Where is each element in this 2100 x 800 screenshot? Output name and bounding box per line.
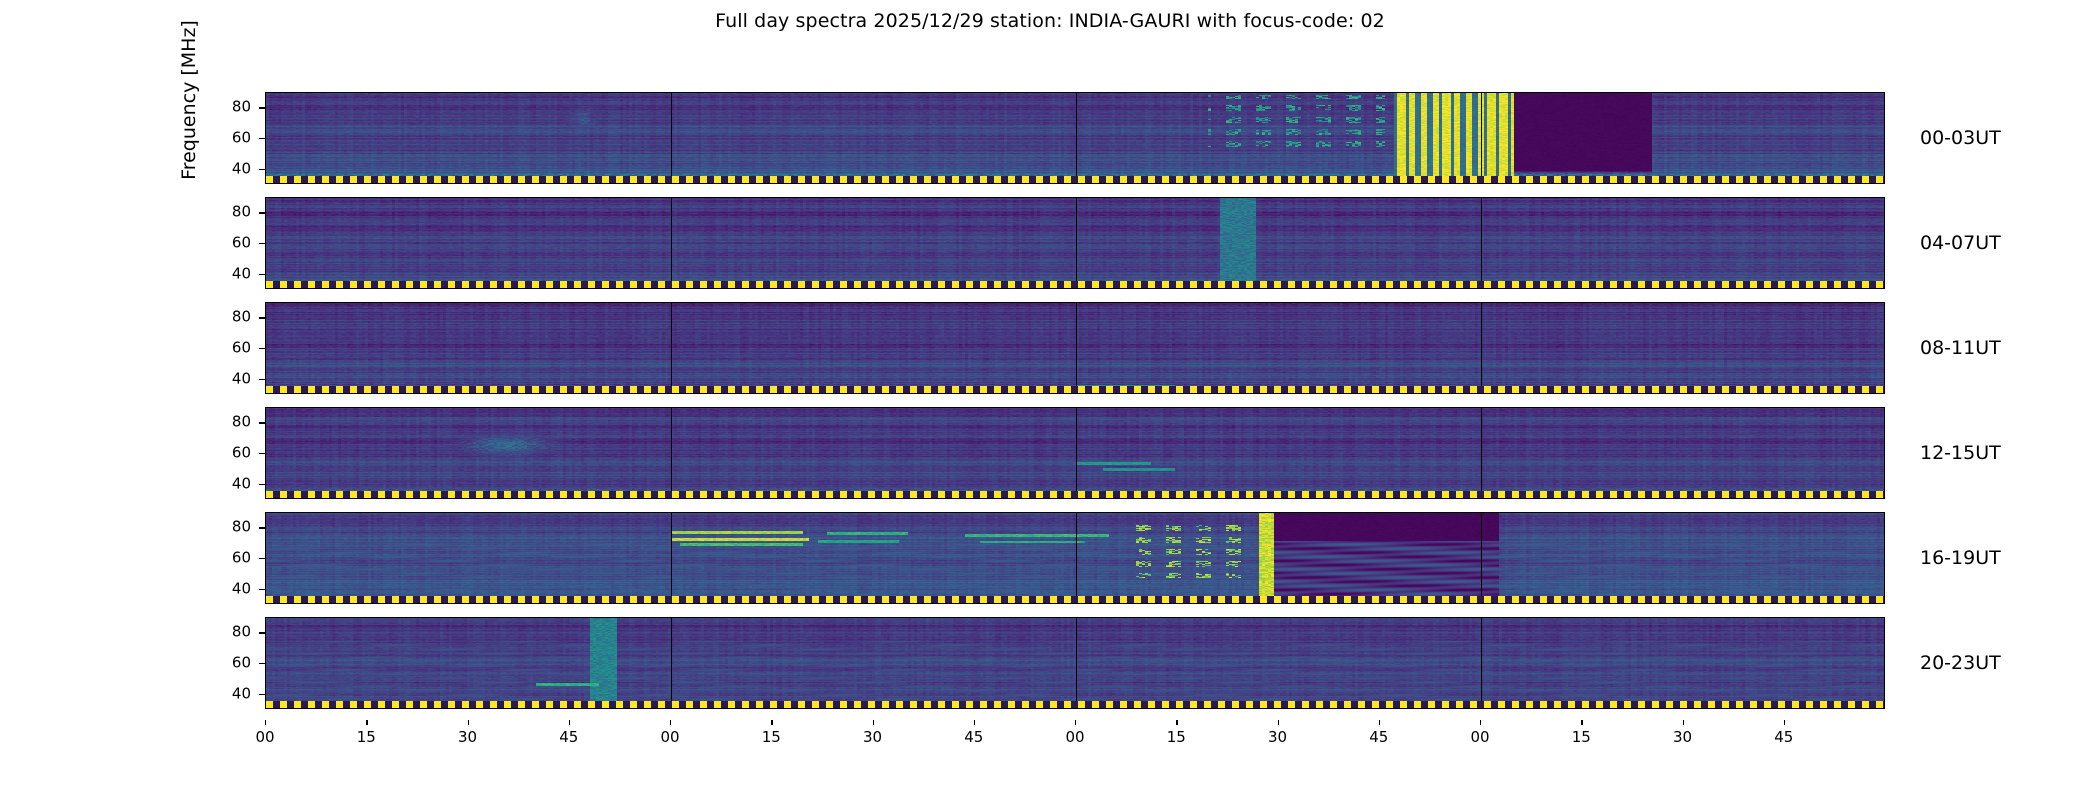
- y-tick-mark: [259, 169, 265, 170]
- x-tick-label: 45: [549, 728, 589, 746]
- y-tick-mark: [259, 632, 265, 633]
- panel-time-label: 16-19UT: [1920, 547, 2001, 569]
- x-tick-label: 45: [954, 728, 994, 746]
- x-tick-label: 30: [853, 728, 893, 746]
- hour-separator: [1481, 618, 1482, 708]
- y-tick-mark: [259, 453, 265, 454]
- panel-time-label: 08-11UT: [1920, 337, 2001, 359]
- y-tick-mark: [259, 558, 265, 559]
- hour-separator: [671, 513, 672, 603]
- spectrogram-figure: Full day spectra 2025/12/29 station: IND…: [0, 0, 2100, 800]
- y-tick-label: 80: [191, 625, 251, 640]
- x-tick-label: 00: [245, 728, 285, 746]
- hour-separator: [1481, 303, 1482, 393]
- hour-separator: [1481, 198, 1482, 288]
- spectrogram-axes[interactable]: [265, 512, 1885, 604]
- panel-time-label: 00-03UT: [1920, 127, 2001, 149]
- hour-separator: [1076, 303, 1077, 393]
- y-tick-mark: [259, 527, 265, 528]
- panel-time-label: 20-23UT: [1920, 652, 2001, 674]
- y-tick-mark: [259, 348, 265, 349]
- x-tick-mark: [1683, 720, 1684, 725]
- spectrogram-axes[interactable]: [265, 617, 1885, 709]
- page-title: Full day spectra 2025/12/29 station: IND…: [0, 10, 2100, 32]
- x-tick-mark: [468, 720, 469, 725]
- y-tick-mark: [259, 274, 265, 275]
- y-tick-mark: [259, 422, 265, 423]
- saturation-marker-band: [266, 596, 1884, 603]
- y-tick-label: 80: [191, 205, 251, 220]
- y-tick-label: 60: [191, 551, 251, 566]
- spectrogram-row-00-03ut: 80604000-03UT: [0, 92, 2100, 184]
- x-tick-mark: [771, 720, 772, 725]
- x-tick-mark: [974, 720, 975, 725]
- y-tick-mark: [259, 107, 265, 108]
- hour-separator: [1076, 408, 1077, 498]
- x-tick-label: 15: [1561, 728, 1601, 746]
- hour-separator: [671, 93, 672, 183]
- x-tick-mark: [1480, 720, 1481, 725]
- spectrogram-row-12-15ut: 80604012-15UT: [0, 407, 2100, 499]
- y-tick-label: 40: [191, 476, 251, 491]
- x-tick-label: 45: [1764, 728, 1804, 746]
- x-tick-mark: [569, 720, 570, 725]
- spectrogram-row-20-23ut: 80604020-23UT: [0, 617, 2100, 709]
- spectrogram-image: [266, 198, 1884, 288]
- saturation-marker-band: [266, 701, 1884, 708]
- y-tick-label: 40: [191, 686, 251, 701]
- y-tick-label: 60: [191, 236, 251, 251]
- panel-time-label: 12-15UT: [1920, 442, 2001, 464]
- y-tick-mark: [259, 243, 265, 244]
- saturation-marker-band: [266, 281, 1884, 288]
- x-tick-label: 15: [1156, 728, 1196, 746]
- x-tick-mark: [1278, 720, 1279, 725]
- x-tick-label: 30: [1258, 728, 1298, 746]
- x-tick-mark: [873, 720, 874, 725]
- x-tick-mark: [366, 720, 367, 725]
- x-tick-label: 45: [1359, 728, 1399, 746]
- spectrogram-axes[interactable]: [265, 92, 1885, 184]
- y-tick-label: 40: [191, 581, 251, 596]
- x-tick-mark: [1075, 720, 1076, 725]
- x-tick-label: 30: [1663, 728, 1703, 746]
- y-tick-label: 80: [191, 415, 251, 430]
- y-tick-mark: [259, 663, 265, 664]
- hour-separator: [671, 198, 672, 288]
- x-tick-mark: [1784, 720, 1785, 725]
- x-tick-mark: [265, 720, 266, 725]
- y-tick-label: 60: [191, 446, 251, 461]
- y-tick-label: 60: [191, 656, 251, 671]
- spectrogram-image: [266, 93, 1884, 183]
- spectrogram-row-08-11ut: 80604008-11UT: [0, 302, 2100, 394]
- y-tick-label: 60: [191, 341, 251, 356]
- hour-separator: [1481, 513, 1482, 603]
- y-tick-mark: [259, 317, 265, 318]
- hour-separator: [671, 408, 672, 498]
- y-tick-mark: [259, 589, 265, 590]
- x-tick-mark: [670, 720, 671, 725]
- spectrogram-axes[interactable]: [265, 197, 1885, 289]
- y-tick-mark: [259, 212, 265, 213]
- y-tick-mark: [259, 138, 265, 139]
- saturation-marker-band: [266, 491, 1884, 498]
- spectrogram-axes[interactable]: [265, 407, 1885, 499]
- hour-separator: [671, 303, 672, 393]
- hour-separator: [1076, 513, 1077, 603]
- spectrogram-axes[interactable]: [265, 302, 1885, 394]
- x-tick-label: 15: [346, 728, 386, 746]
- x-tick-label: 00: [1460, 728, 1500, 746]
- x-tick-label: 30: [448, 728, 488, 746]
- hour-separator: [671, 618, 672, 708]
- spectrogram-image: [266, 618, 1884, 708]
- x-axis: 00153045001530450015304500153045: [265, 720, 1885, 770]
- x-tick-label: 00: [650, 728, 690, 746]
- x-tick-mark: [1176, 720, 1177, 725]
- y-tick-label: 40: [191, 266, 251, 281]
- spectrogram-row-04-07ut: 80604004-07UT: [0, 197, 2100, 289]
- y-tick-mark: [259, 379, 265, 380]
- hour-separator: [1076, 198, 1077, 288]
- spectrogram-image: [266, 513, 1884, 603]
- x-tick-mark: [1379, 720, 1380, 725]
- spectrogram-image: [266, 408, 1884, 498]
- y-tick-label: 60: [191, 131, 251, 146]
- spectrogram-row-16-19ut: 80604016-19UT: [0, 512, 2100, 604]
- x-tick-label: 00: [1055, 728, 1095, 746]
- hour-separator: [1481, 408, 1482, 498]
- y-tick-label: 80: [191, 520, 251, 535]
- x-tick-label: 15: [751, 728, 791, 746]
- saturation-marker-band: [266, 386, 1884, 393]
- y-tick-label: 80: [191, 310, 251, 325]
- spectrogram-image: [266, 303, 1884, 393]
- y-tick-label: 80: [191, 100, 251, 115]
- hour-separator: [1481, 93, 1482, 183]
- hour-separator: [1076, 618, 1077, 708]
- y-tick-mark: [259, 694, 265, 695]
- y-tick-label: 40: [191, 371, 251, 386]
- x-tick-mark: [1581, 720, 1582, 725]
- y-tick-label: 40: [191, 161, 251, 176]
- hour-separator: [1076, 93, 1077, 183]
- saturation-marker-band: [266, 176, 1884, 183]
- y-tick-mark: [259, 484, 265, 485]
- panel-time-label: 04-07UT: [1920, 232, 2001, 254]
